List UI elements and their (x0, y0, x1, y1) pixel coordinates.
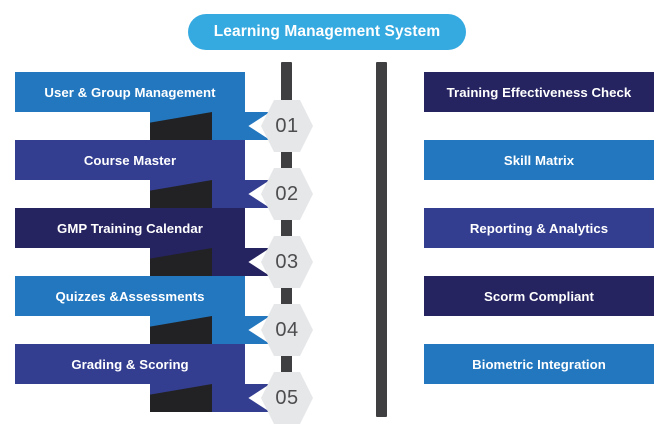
item-label: Biometric Integration (462, 357, 616, 372)
item-label: Training Effectiveness Check (437, 85, 642, 100)
timeline-item-06[interactable]: Training Effectiveness Check06 (339, 72, 669, 140)
item-label-bar: GMP Training Calendar (15, 208, 245, 248)
step-number: 04 (275, 319, 298, 342)
item-label: Grading & Scoring (61, 357, 198, 372)
item-label: Course Master (74, 153, 186, 168)
item-label: GMP Training Calendar (47, 221, 213, 236)
timeline-item-01[interactable]: User & Group Management01 (0, 72, 330, 140)
timeline-item-05[interactable]: Grading & Scoring05 (0, 344, 330, 412)
step-number-hexagon[interactable]: 05 (261, 372, 313, 424)
item-label-bar: Training Effectiveness Check (424, 72, 654, 112)
timeline-item-02[interactable]: Course Master02 (0, 140, 330, 208)
step-number: 03 (275, 251, 298, 274)
item-label-bar: User & Group Management (15, 72, 245, 112)
item-label-bar: Quizzes &Assessments (15, 276, 245, 316)
timeline-item-03[interactable]: GMP Training Calendar03 (0, 208, 330, 276)
timeline-item-08[interactable]: Reporting & Analytics08 (339, 208, 669, 276)
item-label-bar: Skill Matrix (424, 140, 654, 180)
item-label-bar: Biometric Integration (424, 344, 654, 384)
page-title: Learning Management System (214, 23, 441, 41)
step-number: 01 (275, 115, 298, 138)
step-number: 02 (275, 183, 298, 206)
diagram-title-pill: Learning Management System (188, 14, 466, 50)
timeline-item-09[interactable]: Scorm Compliant09 (339, 276, 669, 344)
item-label-bar: Grading & Scoring (15, 344, 245, 384)
item-label-bar: Scorm Compliant (424, 276, 654, 316)
timeline-item-07[interactable]: Skill Matrix07 (339, 140, 669, 208)
item-label: Quizzes &Assessments (45, 289, 214, 304)
diagram-canvas: Learning Management System User & Group … (0, 0, 669, 429)
item-label-bar: Reporting & Analytics (424, 208, 654, 248)
item-label: Skill Matrix (494, 153, 584, 168)
timeline-item-04[interactable]: Quizzes &Assessments04 (0, 276, 330, 344)
item-label: Reporting & Analytics (460, 221, 618, 236)
item-label-bar: Course Master (15, 140, 245, 180)
item-label: Scorm Compliant (474, 289, 604, 304)
timeline-item-10[interactable]: Biometric Integration10 (339, 344, 669, 412)
step-number: 05 (275, 387, 298, 410)
item-label: User & Group Management (34, 85, 225, 100)
